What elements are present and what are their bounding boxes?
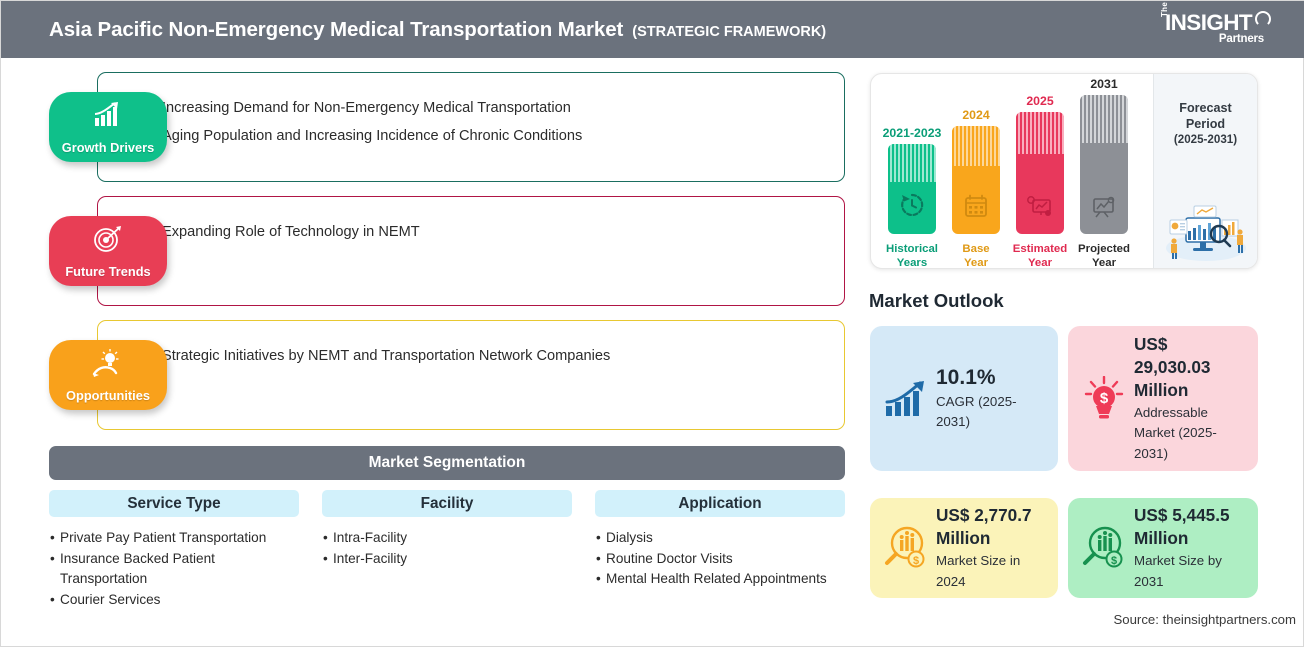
timeline-year-label: 2031: [1090, 77, 1117, 91]
list-item: Expanding Role of Technology in NEMT: [149, 218, 420, 246]
timeline-caption-line2: Years: [886, 256, 938, 269]
segmentation-column-header: Application: [595, 490, 845, 517]
timeline-year-label: 2021-2023: [883, 126, 942, 140]
market-segmentation-title: Market Segmentation: [369, 454, 526, 472]
market-size-2024-text: US$ 2,770.7 Million Market Size in 2024: [930, 504, 1046, 592]
list-item: Dialysis: [595, 528, 845, 549]
addressable-market-label: Addressable Market (2025-2031): [1134, 403, 1246, 465]
growth-drivers-pill[interactable]: Growth Drivers: [49, 92, 167, 162]
target-dart-icon: [49, 225, 167, 253]
timeline-item-projected: 2031 Projected: [1077, 74, 1131, 269]
clock-rewind-icon: [888, 192, 936, 218]
timeline-year-label: 2025: [1026, 94, 1053, 108]
segmentation-column-header: Service Type: [49, 490, 299, 517]
svg-text:$: $: [913, 555, 919, 567]
timeline-caption-line1: Estimated: [1013, 242, 1067, 256]
timeline-item-base: 2024: [949, 74, 1003, 269]
future-trends-label: Future Trends: [65, 264, 150, 279]
header-title-group: Asia Pacific Non-Emergency Medical Trans…: [49, 18, 826, 42]
segmentation-column-list: Intra-Facility Inter-Facility: [322, 528, 572, 569]
segmentation-column-title: Facility: [421, 495, 474, 513]
timeline-caption-line2: Year: [1078, 256, 1130, 269]
market-size-2031-label: Market Size by 2031: [1134, 551, 1246, 592]
future-trends-bullet-list: Expanding Role of Technology in NEMT: [149, 218, 420, 246]
segmentation-column-list: Private Pay Patient Transportation Insur…: [49, 528, 299, 610]
market-size-2031-text: US$ 5,445.5 Million Market Size by 2031: [1128, 504, 1246, 592]
opportunities-pill[interactable]: Opportunities: [49, 340, 167, 410]
left-content-column: Growth Drivers Increasing Demand for Non…: [1, 58, 861, 647]
growth-drivers-bullet-list: Increasing Demand for Non-Emergency Medi…: [149, 94, 582, 150]
analytics-dashboard-illustration: [1162, 204, 1250, 262]
segmentation-column-list: Dialysis Routine Doctor Visits Mental He…: [595, 528, 845, 590]
timeline-bars-group: 2021-2023 Historic: [885, 74, 1145, 269]
opportunities-label: Opportunities: [66, 388, 150, 403]
forecast-period-panel: Forecast Period (2025-2031): [1153, 74, 1257, 269]
magnifier-bars-dollar-icon: $: [882, 526, 930, 570]
cagr-text: 10.1% CAGR (2025-2031): [930, 365, 1046, 433]
addressable-market-text: US$ 29,030.03 Million Addressable Market…: [1128, 333, 1246, 465]
segmentation-column-title: Service Type: [127, 495, 220, 513]
market-outlook-title: Market Outlook: [869, 290, 1004, 312]
calendar-icon: [952, 194, 1000, 218]
market-size-2024-card[interactable]: $ US$ 2,770.7 Million Market Size in 202…: [870, 498, 1058, 598]
lightbulb-dollar-icon: $: [1080, 376, 1128, 422]
addressable-market-card[interactable]: $ US$ 29,030.03 Million Addressable Mark…: [1068, 326, 1258, 471]
cagr-label: CAGR (2025-2031): [936, 392, 1046, 433]
growth-drivers-label: Growth Drivers: [62, 140, 154, 155]
list-item: Mental Health Related Appointments: [595, 569, 845, 590]
factor-row-opportunities: Opportunities Strategic Initiatives by N…: [1, 320, 861, 430]
market-segmentation-header: Market Segmentation: [49, 446, 845, 480]
segmentation-column-header: Facility: [322, 490, 572, 517]
infographic-page: Asia Pacific Non-Emergency Medical Trans…: [0, 0, 1304, 647]
segmentation-column-facility: Facility Intra-Facility Inter-Facility: [322, 490, 572, 569]
forecast-period-text: Forecast Period (2025-2031): [1154, 100, 1257, 148]
timeline-caption-line2: Year: [962, 256, 989, 269]
list-item: Courier Services: [49, 590, 299, 611]
opportunities-bullet-list: Strategic Initiatives by NEMT and Transp…: [149, 342, 610, 370]
timeline-bar: [952, 126, 1000, 234]
list-item: Insurance Backed Patient Transportation: [49, 549, 299, 590]
market-size-2031-card[interactable]: $ US$ 5,445.5 Million Market Size by 203…: [1068, 498, 1258, 598]
timeline-caption-line1: Historical: [886, 242, 938, 256]
future-trends-pill[interactable]: Future Trends: [49, 216, 167, 286]
chart-monitor-icon: [1080, 196, 1128, 218]
forecast-line2: Period: [1154, 116, 1257, 132]
insight-partners-logo: The INSIGHT Partners: [1142, 9, 1272, 51]
page-header: Asia Pacific Non-Emergency Medical Trans…: [1, 1, 1304, 58]
list-item: Intra-Facility: [322, 528, 572, 549]
timeline-bar: [888, 144, 936, 234]
timeline-caption-line2: Year: [1013, 256, 1067, 269]
cagr-value: 10.1%: [936, 365, 1046, 391]
timeline-bar: [1016, 112, 1064, 234]
timeline-caption: Estimated Year: [1013, 242, 1067, 269]
segmentation-column-service-type: Service Type Private Pay Patient Transpo…: [49, 490, 299, 610]
list-item: Inter-Facility: [322, 549, 572, 570]
factor-row-future-trends: Future Trends Expanding Role of Technolo…: [1, 196, 861, 306]
segmentation-column-title: Application: [678, 495, 761, 513]
source-attribution: Source: theinsightpartners.com: [1113, 612, 1296, 627]
year-timeline-card: 2021-2023 Historic: [870, 73, 1258, 269]
list-item: Private Pay Patient Transportation: [49, 528, 299, 549]
page-title: Asia Pacific Non-Emergency Medical Trans…: [49, 18, 623, 42]
logo-partners-text: Partners: [1219, 33, 1264, 45]
forecast-monitor-icon: [1016, 196, 1064, 218]
forecast-line1: Forecast: [1154, 100, 1257, 116]
magnifier-bars-dollar-icon: $: [1080, 526, 1128, 570]
addressable-market-value: US$ 29,030.03 Million: [1134, 333, 1246, 402]
opportunities-panel: [97, 320, 845, 430]
forecast-line3: (2025-2031): [1154, 132, 1257, 148]
timeline-item-estimated: 2025: [1013, 74, 1067, 269]
list-item: Aging Population and Increasing Incidenc…: [149, 122, 582, 150]
market-size-2031-value: US$ 5,445.5 Million: [1134, 504, 1246, 550]
logo-circle-icon: [1255, 11, 1271, 27]
timeline-caption: Base Year: [962, 242, 989, 269]
list-item: Routine Doctor Visits: [595, 549, 845, 570]
bar-chart-up-icon: [49, 101, 167, 127]
page-subtitle: (STRATEGIC FRAMEWORK): [632, 24, 826, 40]
market-size-2024-value: US$ 2,770.7 Million: [936, 504, 1046, 550]
timeline-year-label: 2024: [962, 108, 989, 122]
future-trends-panel: [97, 196, 845, 306]
factor-row-growth-drivers: Growth Drivers Increasing Demand for Non…: [1, 72, 861, 182]
segmentation-column-application: Application Dialysis Routine Doctor Visi…: [595, 490, 845, 590]
timeline-caption: Historical Years: [886, 242, 938, 269]
svg-text:$: $: [1100, 390, 1109, 407]
list-item: Increasing Demand for Non-Emergency Medi…: [149, 94, 582, 122]
timeline-caption-line1: Base: [962, 242, 989, 256]
growth-bar-chart-icon: [882, 380, 930, 418]
timeline-caption-line1: Projected: [1078, 242, 1130, 256]
market-size-2024-label: Market Size in 2024: [936, 551, 1046, 592]
timeline-caption: Projected Year: [1078, 242, 1130, 269]
timeline-item-historical: 2021-2023 Historic: [885, 74, 939, 269]
right-content-column: 2021-2023 Historic: [861, 58, 1304, 647]
lightbulb-hand-icon: [49, 349, 167, 377]
svg-text:$: $: [1111, 555, 1117, 567]
list-item: Strategic Initiatives by NEMT and Transp…: [149, 342, 610, 370]
timeline-bar: [1080, 95, 1128, 234]
cagr-card[interactable]: 10.1% CAGR (2025-2031): [870, 326, 1058, 471]
